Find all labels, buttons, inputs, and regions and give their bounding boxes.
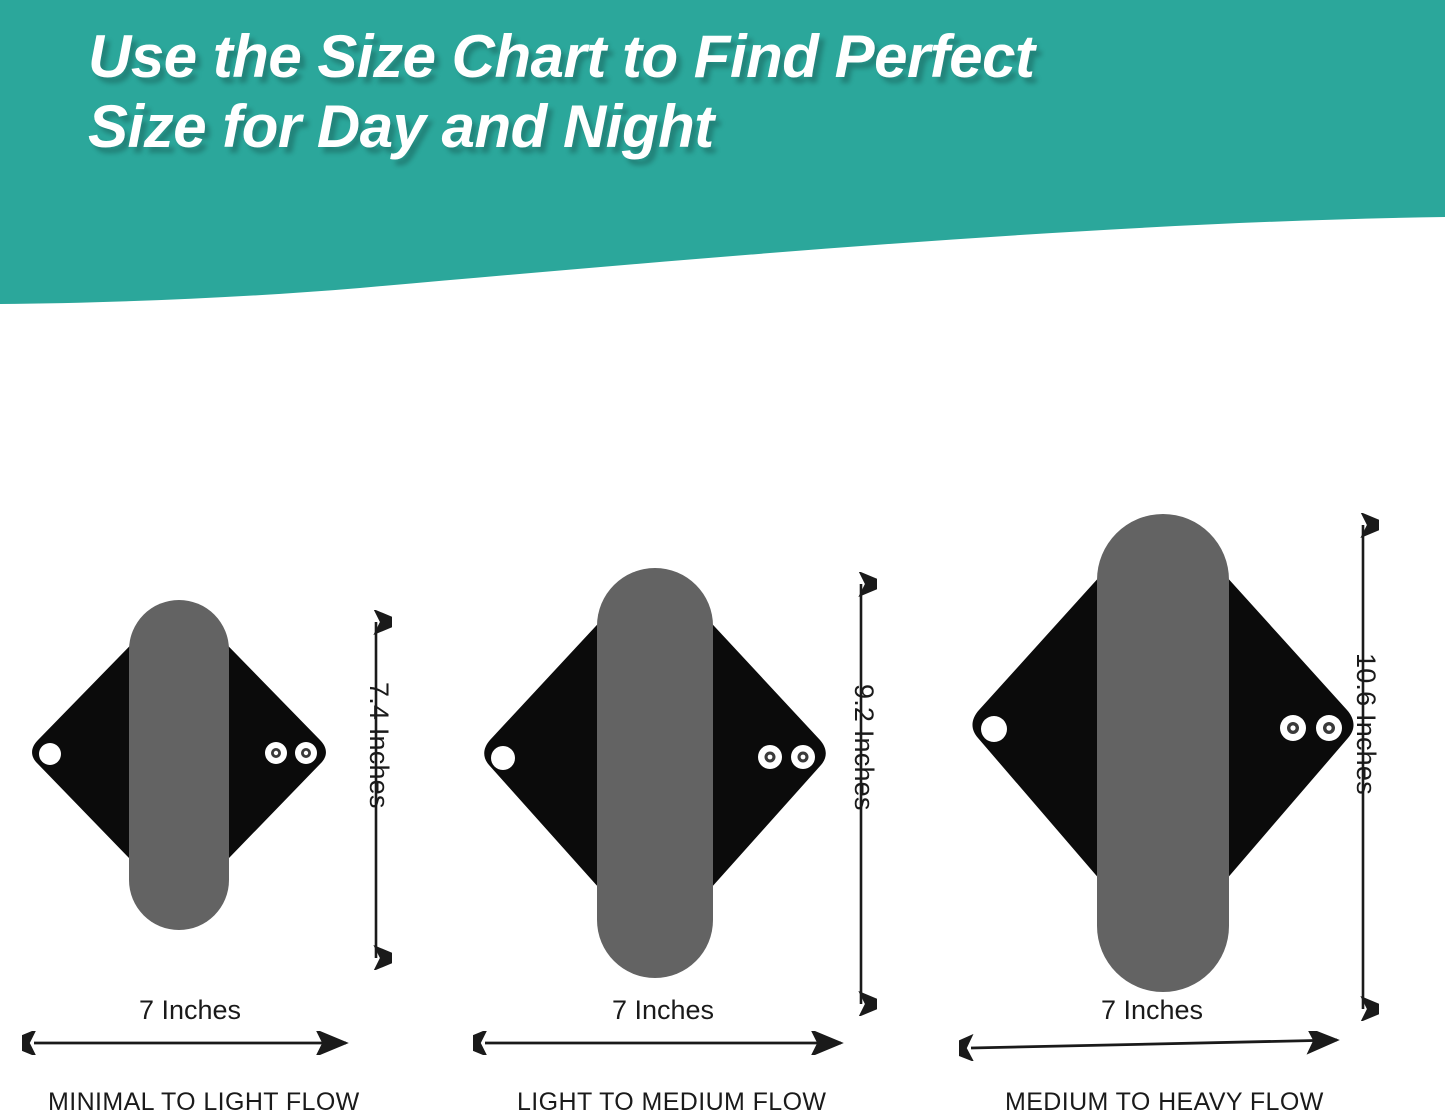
pad-diagram-medium	[475, 568, 835, 998]
snap-hole-icon	[39, 743, 61, 765]
height-dimension-large: 10.6 Inches	[1349, 513, 1379, 1021]
snap-button-icon	[265, 742, 287, 764]
pad-caption-small: MINIMAL TO LIGHT FLOW	[48, 1088, 360, 1117]
snap-hole-icon	[491, 746, 515, 770]
snap-button-icon	[1316, 715, 1342, 741]
height-dimension-small: 7.4 Inches	[362, 610, 392, 970]
pad-column-medium: 9.2 Inches 7 Inches LIGHT TO M	[455, 310, 945, 1116]
pad-caption-medium: LIGHT TO MEDIUM FLOW	[517, 1088, 826, 1117]
pad-insert	[129, 600, 229, 930]
page-title: Use the Size Chart to Find Perfect Size …	[88, 22, 1388, 162]
height-dimension-label-medium: 9.2 Inches	[848, 684, 879, 811]
height-dimension-medium: 9.2 Inches	[847, 572, 877, 1016]
snap-button-icon	[758, 745, 782, 769]
height-dimension-label-small: 7.4 Inches	[363, 682, 394, 809]
width-dimension-label-large: 7 Inches	[959, 995, 1345, 1026]
pads-row: 7.4 Inches 7 Inches MIN	[0, 310, 1445, 1116]
snap-button-icon	[295, 742, 317, 764]
header-banner: Use the Size Chart to Find Perfect Size …	[0, 0, 1445, 310]
pad-diagram-large	[963, 514, 1363, 1014]
pad-column-small: 7.4 Inches 7 Inches MIN	[0, 310, 455, 1116]
pad-diagram-small	[24, 600, 334, 950]
snap-button-icon	[791, 745, 815, 769]
snap-hole-icon	[981, 716, 1007, 742]
dimension-line	[971, 1040, 1337, 1048]
size-chart-page: Use the Size Chart to Find Perfect Size …	[0, 0, 1445, 1116]
pad-insert	[597, 568, 713, 978]
width-dimension-label-small: 7 Inches	[22, 995, 358, 1026]
snap-button-icon	[1280, 715, 1306, 741]
pad-caption-large: MEDIUM TO HEAVY FLOW	[1005, 1088, 1324, 1117]
width-dimension-label-medium: 7 Inches	[473, 995, 853, 1026]
height-dimension-label-large: 10.6 Inches	[1350, 653, 1381, 795]
pad-insert	[1097, 514, 1229, 992]
pad-column-large: 10.6 Inches 7 Inches MEDIUM TO	[945, 310, 1445, 1116]
